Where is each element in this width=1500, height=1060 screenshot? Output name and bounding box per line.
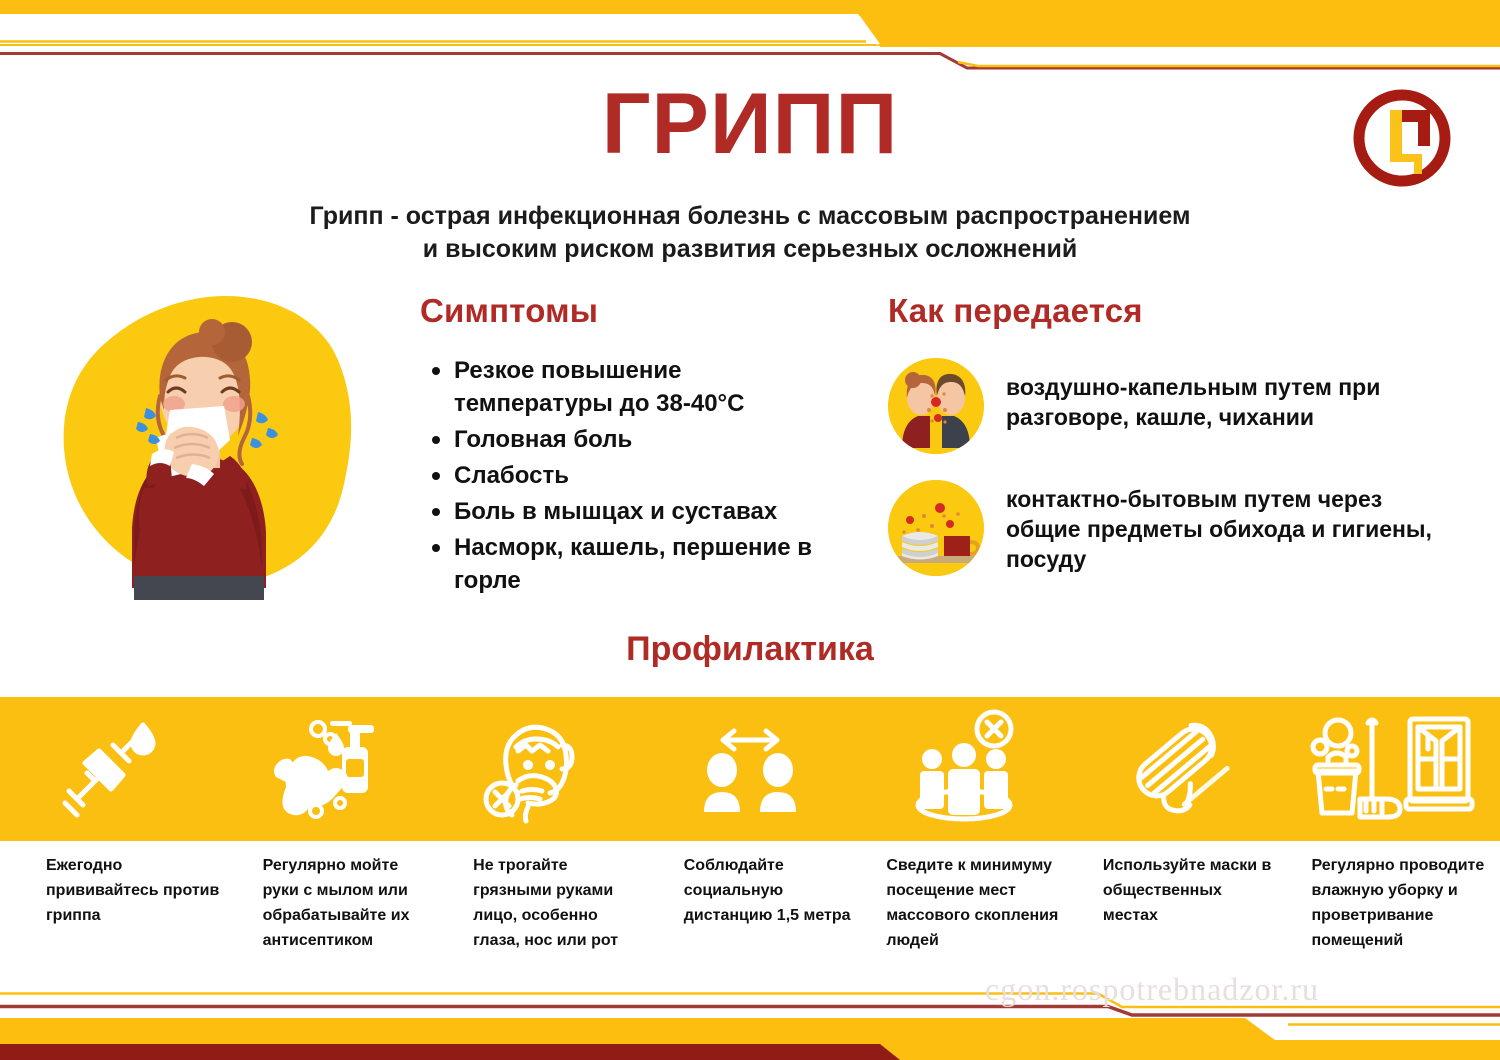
wash-hands-soap-icon bbox=[256, 707, 386, 832]
prevention-icon-cell bbox=[429, 697, 643, 841]
social-distance-icon bbox=[690, 712, 810, 827]
symptoms-heading: Симптомы bbox=[420, 292, 840, 330]
transmission-heading: Как передается bbox=[888, 292, 1448, 330]
list-item: Боль в мышцах и суставах bbox=[454, 495, 840, 528]
list-item: Резкое повышение температуры до 38-40°С bbox=[454, 354, 840, 420]
symptoms-section: Симптомы Резкое повышение температуры до… bbox=[420, 292, 840, 600]
caption-cell: Регулярно проводите влажную уборку и про… bbox=[1291, 853, 1500, 953]
list-item: воздушно-капельным путем при разговоре, … bbox=[888, 358, 1448, 454]
transmission-text: воздушно-капельным путем при разговоре, … bbox=[1006, 358, 1448, 432]
subtitle-line-2: и высоким риском развития серьезных осло… bbox=[250, 233, 1250, 266]
list-item: Слабость bbox=[454, 459, 840, 492]
prevention-caption: Регулярно проводите влажную уборку и про… bbox=[1311, 853, 1486, 953]
prevention-icon-cell bbox=[643, 697, 857, 841]
prevention-caption: Используйте маски в общественных местах bbox=[1103, 853, 1278, 928]
caption-cell: Сведите к минимуму посещение мест массов… bbox=[872, 853, 1075, 953]
dishes-and-mug-icon bbox=[888, 480, 984, 576]
page-subtitle: Грипп - острая инфекционная болезнь с ма… bbox=[250, 200, 1250, 266]
page-title: ГРИПП bbox=[0, 78, 1500, 170]
site-watermark: cgon.rospotrebnadzor.ru bbox=[985, 972, 1319, 1006]
list-item: контактно-бытовым путем через общие пред… bbox=[888, 480, 1448, 576]
caption-cell: Регулярно мойте руки с мылом или обрабат… bbox=[235, 853, 452, 953]
two-people-talking-icon bbox=[888, 358, 984, 454]
face-mask-icon bbox=[1119, 707, 1239, 832]
symptoms-list: Резкое повышение температуры до 38-40°С … bbox=[420, 354, 840, 597]
transmission-text: контактно-бытовым путем через общие пред… bbox=[1006, 480, 1448, 574]
prevention-caption: Ежегодно прививайтесь против гриппа bbox=[46, 853, 221, 928]
prevention-icon-cell bbox=[1071, 697, 1285, 841]
caption-cell: Соблюдайте социальную дистанцию 1,5 метр… bbox=[662, 853, 873, 953]
prevention-caption: Сведите к минимуму посещение мест массов… bbox=[886, 853, 1061, 953]
caption-cell: Используйте маски в общественных местах bbox=[1075, 853, 1292, 953]
prevention-caption: Не трогайте грязными руками лицо, особен… bbox=[473, 853, 648, 953]
no-crowd-icon bbox=[902, 707, 1027, 832]
prevention-icon-cell bbox=[1286, 697, 1500, 841]
prevention-heading: Профилактика bbox=[0, 630, 1500, 669]
prevention-icon-cell bbox=[857, 697, 1071, 841]
woman-sneezing-illustration bbox=[52, 288, 382, 618]
prevention-icon-band bbox=[0, 697, 1500, 841]
transmission-section: Как передается bbox=[888, 292, 1448, 602]
no-touch-face-icon bbox=[476, 707, 596, 832]
caption-cell: Ежегодно прививайтесь против гриппа bbox=[0, 853, 235, 953]
prevention-icon-cell bbox=[0, 697, 214, 841]
prevention-caption: Регулярно мойте руки с мылом или обрабат… bbox=[263, 853, 438, 953]
cleaning-airing-icon bbox=[1310, 707, 1475, 832]
list-item: Головная боль bbox=[454, 423, 840, 456]
infographic-page: ГРИПП Грипп - острая инфекционная болезн… bbox=[0, 0, 1500, 1060]
list-item: Насморк, кашель, першение в горле bbox=[454, 531, 840, 597]
subtitle-line-1: Грипп - острая инфекционная болезнь с ма… bbox=[250, 200, 1250, 233]
cgon-logo-icon bbox=[1352, 88, 1452, 188]
caption-cell: Не трогайте грязными руками лицо, особен… bbox=[451, 853, 662, 953]
prevention-caption: Соблюдайте социальную дистанцию 1,5 метр… bbox=[684, 853, 859, 928]
prevention-captions: Ежегодно прививайтесь против гриппа Регу… bbox=[0, 853, 1500, 953]
prevention-icon-cell bbox=[214, 697, 428, 841]
syringe-icon bbox=[47, 707, 167, 832]
